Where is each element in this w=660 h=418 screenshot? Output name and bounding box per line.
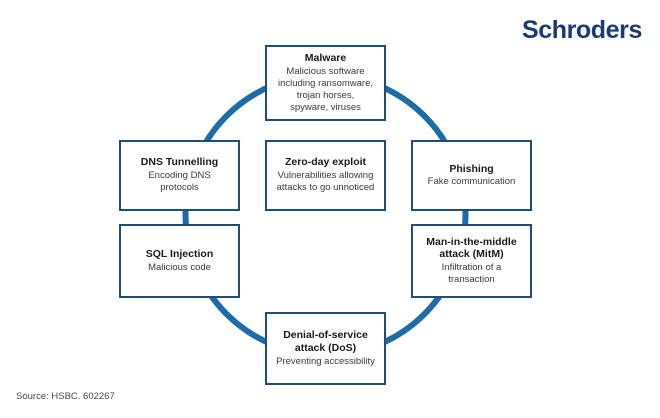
node-man-in-the-middle-attack-description: Infiltration of a transaction — [442, 262, 502, 286]
node-malware-description: Malicious software includ​ing ransomware… — [278, 66, 373, 115]
node-dns-tunnelling-description: Encoding DNS protocols — [128, 170, 231, 194]
node-dns-tunnelling[interactable]: DNS Tunnelling Encoding DNS protocols — [119, 140, 240, 211]
node-zero-day-exploit-title: Zero-day exploit — [285, 156, 366, 169]
node-sql-injection-title: SQL Injection — [146, 248, 213, 261]
node-denial-of-service-attack[interactable]: Denial-of-service attack (DoS) Preventin… — [265, 312, 386, 385]
node-dns-tunnelling-title: DNS Tunnelling — [141, 156, 218, 169]
node-zero-day-exploit-description: Vulnerabilities allowing attacks to go u… — [277, 170, 375, 194]
node-denial-of-service-attack-title: Denial-of-service attack (DoS) — [283, 329, 368, 355]
schroders-logo: Schroders — [522, 18, 642, 43]
node-sql-injection-description: Malicious code — [148, 262, 211, 274]
source-caption: Source: HSBC. 602267 — [16, 391, 115, 402]
node-man-in-the-middle-attack[interactable]: Man-in-the-middle attack (MitM) Infiltra… — [411, 224, 532, 298]
node-malware[interactable]: Malware Malicious software includ​ing ra… — [265, 45, 386, 121]
node-denial-of-service-attack-description: Preventing accessibility — [276, 356, 375, 368]
node-malware-title: Malware — [305, 52, 346, 65]
node-phishing[interactable]: Phishing Fake communication — [411, 140, 532, 211]
node-man-in-the-middle-attack-title: Man-in-the-middle attack (MitM) — [426, 236, 516, 262]
node-phishing-title: Phishing — [449, 163, 493, 176]
node-zero-day-exploit[interactable]: Zero-day exploit Vulnerabilities allowin… — [265, 140, 386, 211]
node-sql-injection[interactable]: SQL Injection Malicious code — [119, 224, 240, 298]
node-phishing-description: Fake communication — [428, 176, 516, 188]
diagram-canvas: Schroders Malware Malicious software inc… — [0, 0, 660, 418]
